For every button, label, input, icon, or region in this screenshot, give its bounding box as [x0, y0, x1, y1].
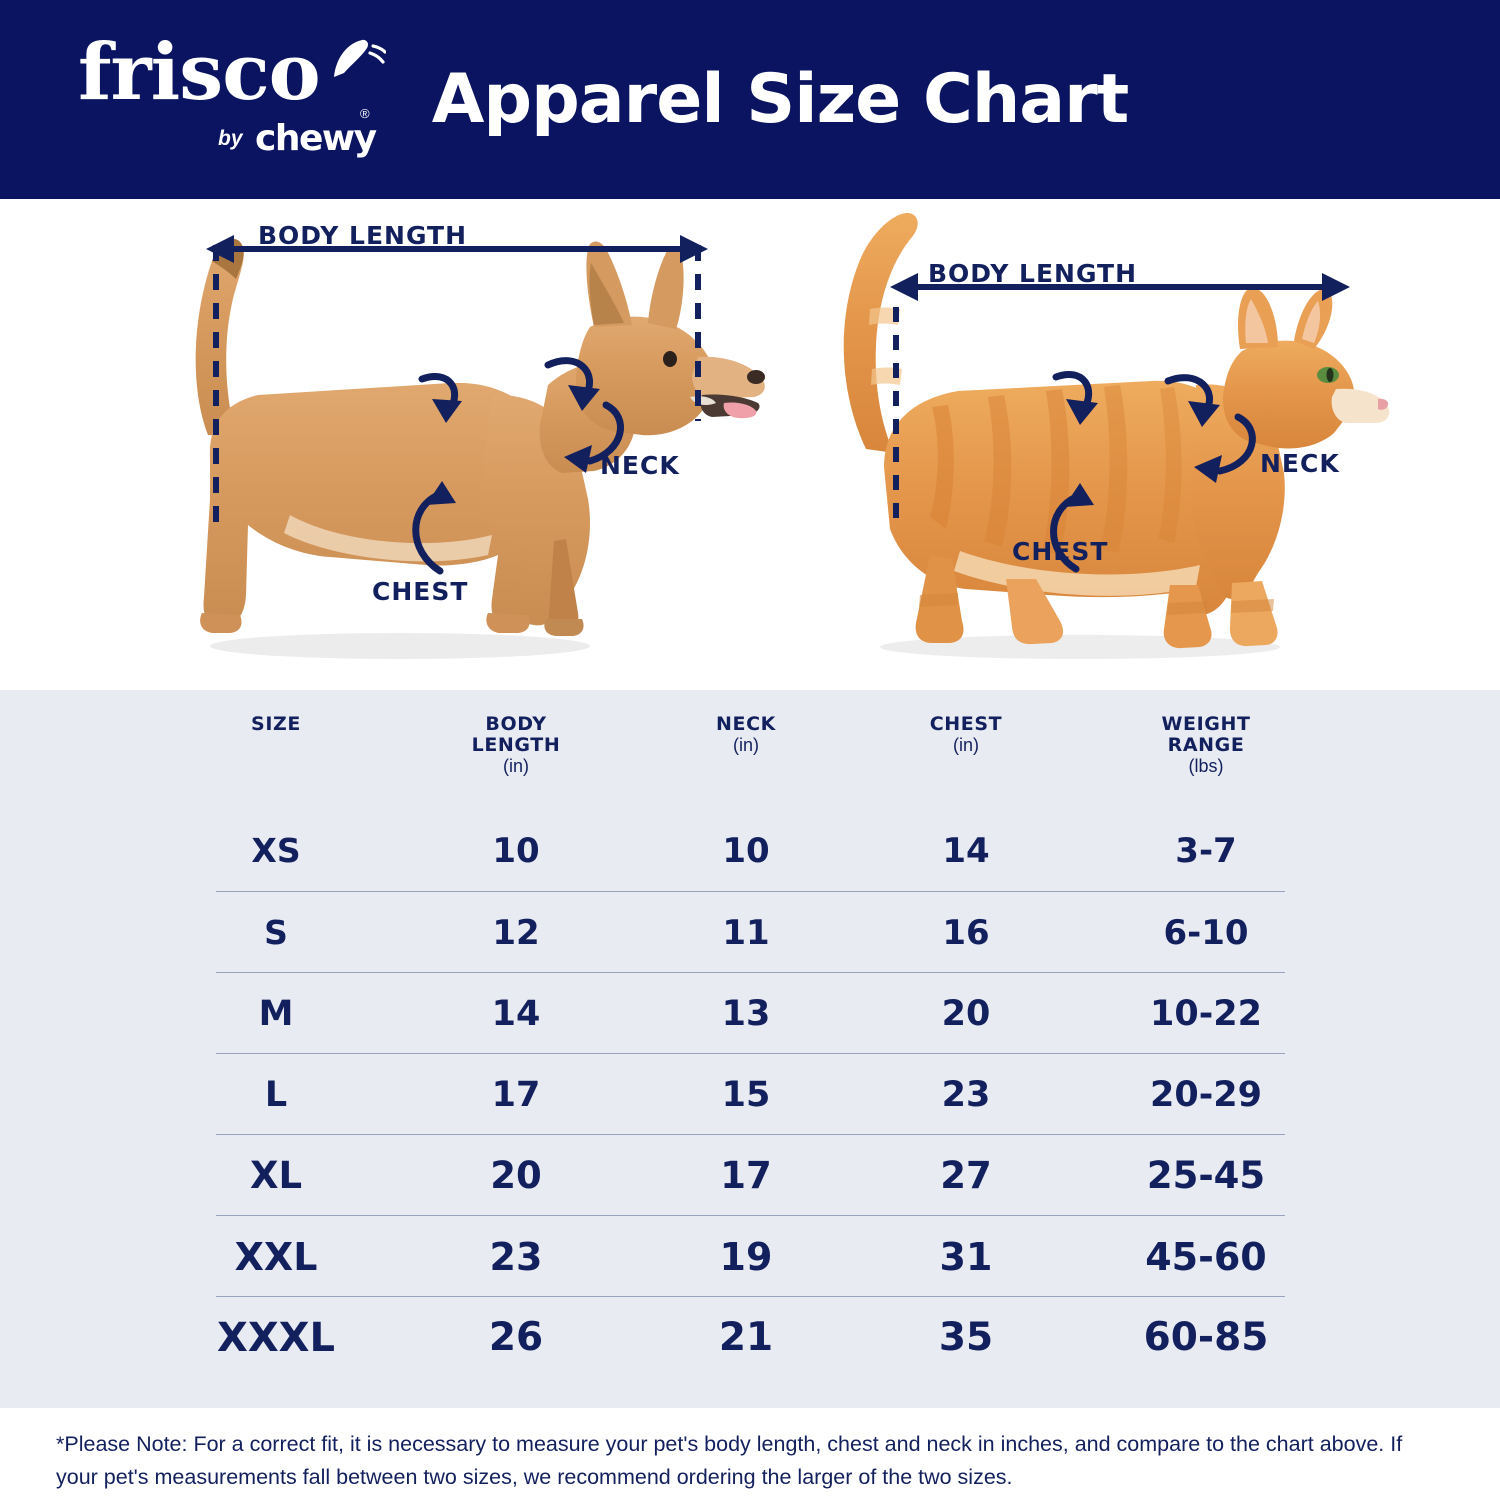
cell-size: XS	[186, 810, 366, 891]
dog-label-body-length: BODY LENGTH	[258, 221, 467, 250]
cell-chest: 31	[886, 1216, 1046, 1297]
table-row: L17152320-29	[216, 1053, 1285, 1134]
header-body-line2: LENGTH	[472, 734, 561, 756]
cell-body-length: 12	[436, 892, 596, 973]
cell-neck: 15	[666, 1054, 826, 1135]
table-row: XL20172725-45	[216, 1134, 1285, 1215]
header-banner: frisco ® by chewy Apparel Size Chart	[0, 0, 1500, 199]
footer-note: *Please Note: For a correct fit, it is n…	[0, 1408, 1500, 1500]
cell-body-length: 23	[436, 1216, 596, 1297]
header-chest-label: CHEST	[930, 713, 1002, 735]
cell-body-length: 10	[436, 810, 596, 891]
cell-size: L	[186, 1054, 366, 1135]
cell-weight: 10-22	[1086, 973, 1326, 1054]
cat-label-neck: NECK	[1260, 449, 1340, 478]
dog-diagram-panel: BODY LENGTH NECK CHEST	[150, 199, 770, 690]
cell-neck: 10	[666, 810, 826, 891]
cat-label-chest: CHEST	[1012, 537, 1108, 566]
cell-chest: 27	[886, 1135, 1046, 1216]
cat-label-body-length: BODY LENGTH	[928, 259, 1137, 288]
cell-neck: 19	[666, 1216, 826, 1297]
table-row: S1211166-10	[216, 891, 1285, 972]
table-row: XXL23193145-60	[216, 1215, 1285, 1296]
header-chest-unit: (in)	[886, 735, 1046, 756]
header-body-line1: BODY	[485, 713, 546, 735]
column-header-chest: CHEST (in)	[886, 714, 1046, 756]
dog-measure-overlay	[150, 199, 770, 690]
cell-size: S	[186, 892, 366, 973]
table-row: XS1010143-7	[216, 810, 1285, 891]
cell-body-length: 20	[436, 1135, 596, 1216]
header-weight-unit: (lbs)	[1086, 756, 1326, 777]
cell-body-length: 17	[436, 1054, 596, 1135]
dog-label-chest: CHEST	[372, 577, 468, 606]
cell-size: XXL	[186, 1216, 366, 1297]
dog-label-neck: NECK	[600, 451, 680, 480]
size-table: SIZE BODY LENGTH (in) NECK (in) CHEST (i…	[216, 690, 1285, 1377]
cell-weight: 45-60	[1086, 1216, 1326, 1297]
page-title: Apparel Size Chart	[0, 0, 1500, 199]
cell-chest: 35	[886, 1297, 1046, 1378]
cell-chest: 20	[886, 973, 1046, 1054]
header-size-label: SIZE	[251, 713, 301, 735]
cell-neck: 11	[666, 892, 826, 973]
size-table-section: SIZE BODY LENGTH (in) NECK (in) CHEST (i…	[0, 690, 1500, 1408]
header-body-unit: (in)	[436, 756, 596, 777]
cell-weight: 25-45	[1086, 1135, 1326, 1216]
illustration-area: BODY LENGTH NECK CHEST	[0, 199, 1500, 690]
column-header-neck: NECK (in)	[666, 714, 826, 756]
header-weight-line2: RANGE	[1168, 734, 1245, 756]
cell-weight: 3-7	[1086, 810, 1326, 891]
table-row: XXXL26213560-85	[216, 1296, 1285, 1377]
cat-diagram-panel: BODY LENGTH NECK CHEST	[780, 199, 1400, 690]
table-row: M14132010-22	[216, 972, 1285, 1053]
table-body: XS1010143-7S1211166-10M14132010-22L17152…	[216, 810, 1285, 1377]
header-weight-line1: WEIGHT	[1161, 713, 1250, 735]
cell-neck: 13	[666, 973, 826, 1054]
cell-body-length: 26	[436, 1297, 596, 1378]
column-header-body-length: BODY LENGTH (in)	[436, 714, 596, 777]
cell-size: M	[186, 973, 366, 1054]
cell-body-length: 14	[436, 973, 596, 1054]
cell-size: XXXL	[186, 1297, 366, 1378]
cell-size: XL	[186, 1135, 366, 1216]
header-neck-label: NECK	[716, 713, 776, 735]
cell-chest: 23	[886, 1054, 1046, 1135]
cell-neck: 21	[666, 1297, 826, 1378]
cell-weight: 60-85	[1086, 1297, 1326, 1378]
cell-chest: 16	[886, 892, 1046, 973]
cell-chest: 14	[886, 810, 1046, 891]
table-header-row: SIZE BODY LENGTH (in) NECK (in) CHEST (i…	[216, 690, 1285, 810]
cell-neck: 17	[666, 1135, 826, 1216]
cell-weight: 20-29	[1086, 1054, 1326, 1135]
header-neck-unit: (in)	[666, 735, 826, 756]
cell-weight: 6-10	[1086, 892, 1326, 973]
column-header-weight-range: WEIGHT RANGE (lbs)	[1086, 714, 1326, 777]
column-header-size: SIZE	[186, 714, 366, 735]
